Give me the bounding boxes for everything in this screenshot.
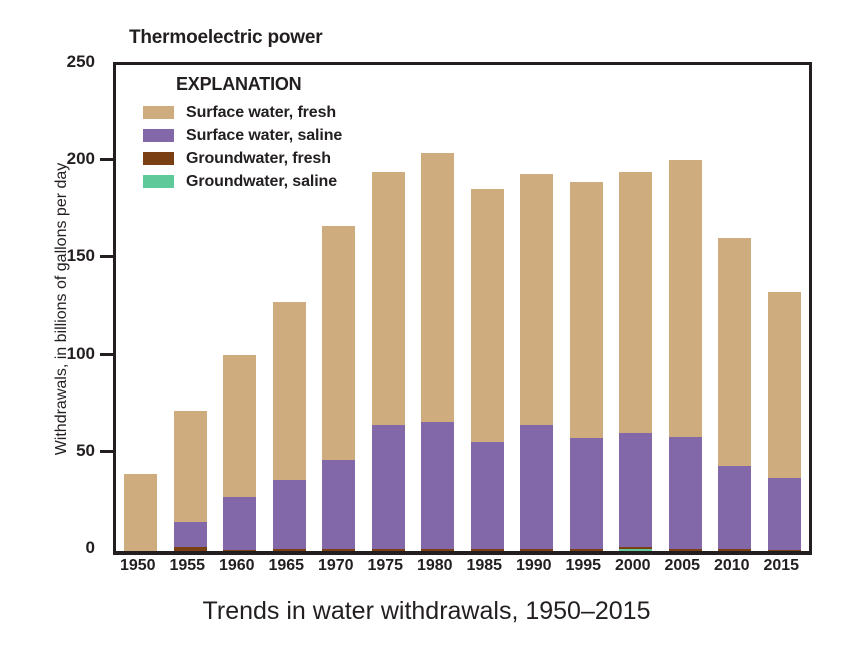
y-axis-tick bbox=[100, 158, 113, 161]
bar-segment bbox=[619, 547, 652, 549]
bar-segment bbox=[174, 522, 207, 547]
y-axis-tick-label: 100 bbox=[3, 345, 95, 362]
bar-segment bbox=[322, 226, 355, 459]
bar-segment bbox=[570, 182, 603, 439]
bar-segment bbox=[273, 302, 306, 480]
bar-segment bbox=[223, 355, 256, 497]
bar-group bbox=[570, 65, 603, 551]
legend-swatch bbox=[143, 129, 174, 142]
figure-caption: Trends in water withdrawals, 1950–2015 bbox=[0, 597, 853, 626]
bar-segment bbox=[669, 549, 702, 551]
legend-label: Surface water, saline bbox=[186, 127, 342, 145]
bar-segment bbox=[718, 466, 751, 550]
bar-segment bbox=[273, 480, 306, 549]
bar-segment bbox=[768, 478, 801, 550]
bar-group bbox=[718, 65, 751, 551]
bar-segment bbox=[174, 411, 207, 522]
legend-swatch bbox=[143, 152, 174, 165]
y-axis-tick bbox=[100, 255, 113, 258]
legend: EXPLANATION Surface water, freshSurface … bbox=[143, 74, 342, 193]
bar-segment bbox=[322, 460, 355, 549]
bar-segment bbox=[520, 549, 553, 551]
bar-segment bbox=[520, 174, 553, 425]
legend-label: Groundwater, saline bbox=[186, 173, 337, 191]
bar-group bbox=[619, 65, 652, 551]
bar-segment bbox=[619, 433, 652, 548]
bar-group bbox=[669, 65, 702, 551]
bar-segment bbox=[718, 238, 751, 466]
legend-swatch bbox=[143, 175, 174, 188]
bar-segment bbox=[421, 549, 454, 551]
y-axis-tick-label: 50 bbox=[3, 442, 95, 459]
bar-group bbox=[421, 65, 454, 551]
legend-label: Surface water, fresh bbox=[186, 104, 336, 122]
legend-item: Surface water, saline bbox=[143, 124, 342, 147]
y-axis-tick bbox=[100, 450, 113, 453]
bar-segment bbox=[124, 474, 157, 551]
y-axis-tick bbox=[100, 353, 113, 356]
x-axis-tick-label: 2015 bbox=[751, 557, 811, 575]
bar-segment bbox=[619, 172, 652, 433]
bar-group bbox=[471, 65, 504, 551]
legend-title: EXPLANATION bbox=[176, 74, 342, 95]
bar-segment bbox=[273, 549, 306, 551]
panel-title: Thermoelectric power bbox=[129, 27, 322, 49]
bar-segment bbox=[471, 442, 504, 549]
bar-segment bbox=[520, 425, 553, 549]
y-axis-tick-label: 250 bbox=[3, 53, 95, 70]
bar-segment bbox=[223, 497, 256, 549]
bar-group bbox=[372, 65, 405, 551]
bar-segment bbox=[372, 549, 405, 551]
bar-segment bbox=[421, 153, 454, 423]
bar-segment bbox=[421, 422, 454, 548]
bar-group bbox=[768, 65, 801, 551]
bar-segment bbox=[570, 438, 603, 549]
legend-item: Surface water, fresh bbox=[143, 101, 342, 124]
bar-segment bbox=[619, 549, 652, 551]
y-axis-tick-label: 150 bbox=[3, 247, 95, 264]
figure-thermoelectric-power-withdrawals: Thermoelectric power Withdrawals, in bil… bbox=[0, 0, 853, 654]
y-axis-tick-label: 0 bbox=[3, 539, 95, 556]
bar-segment bbox=[372, 172, 405, 425]
bar-segment bbox=[471, 189, 504, 442]
y-axis-tick-label: 200 bbox=[3, 150, 95, 167]
legend-item: Groundwater, fresh bbox=[143, 147, 342, 170]
bar-group bbox=[520, 65, 553, 551]
legend-label: Groundwater, fresh bbox=[186, 150, 331, 168]
legend-rows: Surface water, freshSurface water, salin… bbox=[143, 101, 342, 193]
legend-swatch bbox=[143, 106, 174, 119]
bar-segment bbox=[669, 160, 702, 436]
bar-segment bbox=[372, 425, 405, 549]
legend-item: Groundwater, saline bbox=[143, 170, 342, 193]
bar-segment bbox=[669, 437, 702, 550]
bar-segment bbox=[768, 292, 801, 477]
bar-segment bbox=[322, 549, 355, 551]
bar-segment bbox=[174, 547, 207, 551]
bar-segment bbox=[471, 549, 504, 551]
bar-segment bbox=[570, 549, 603, 551]
